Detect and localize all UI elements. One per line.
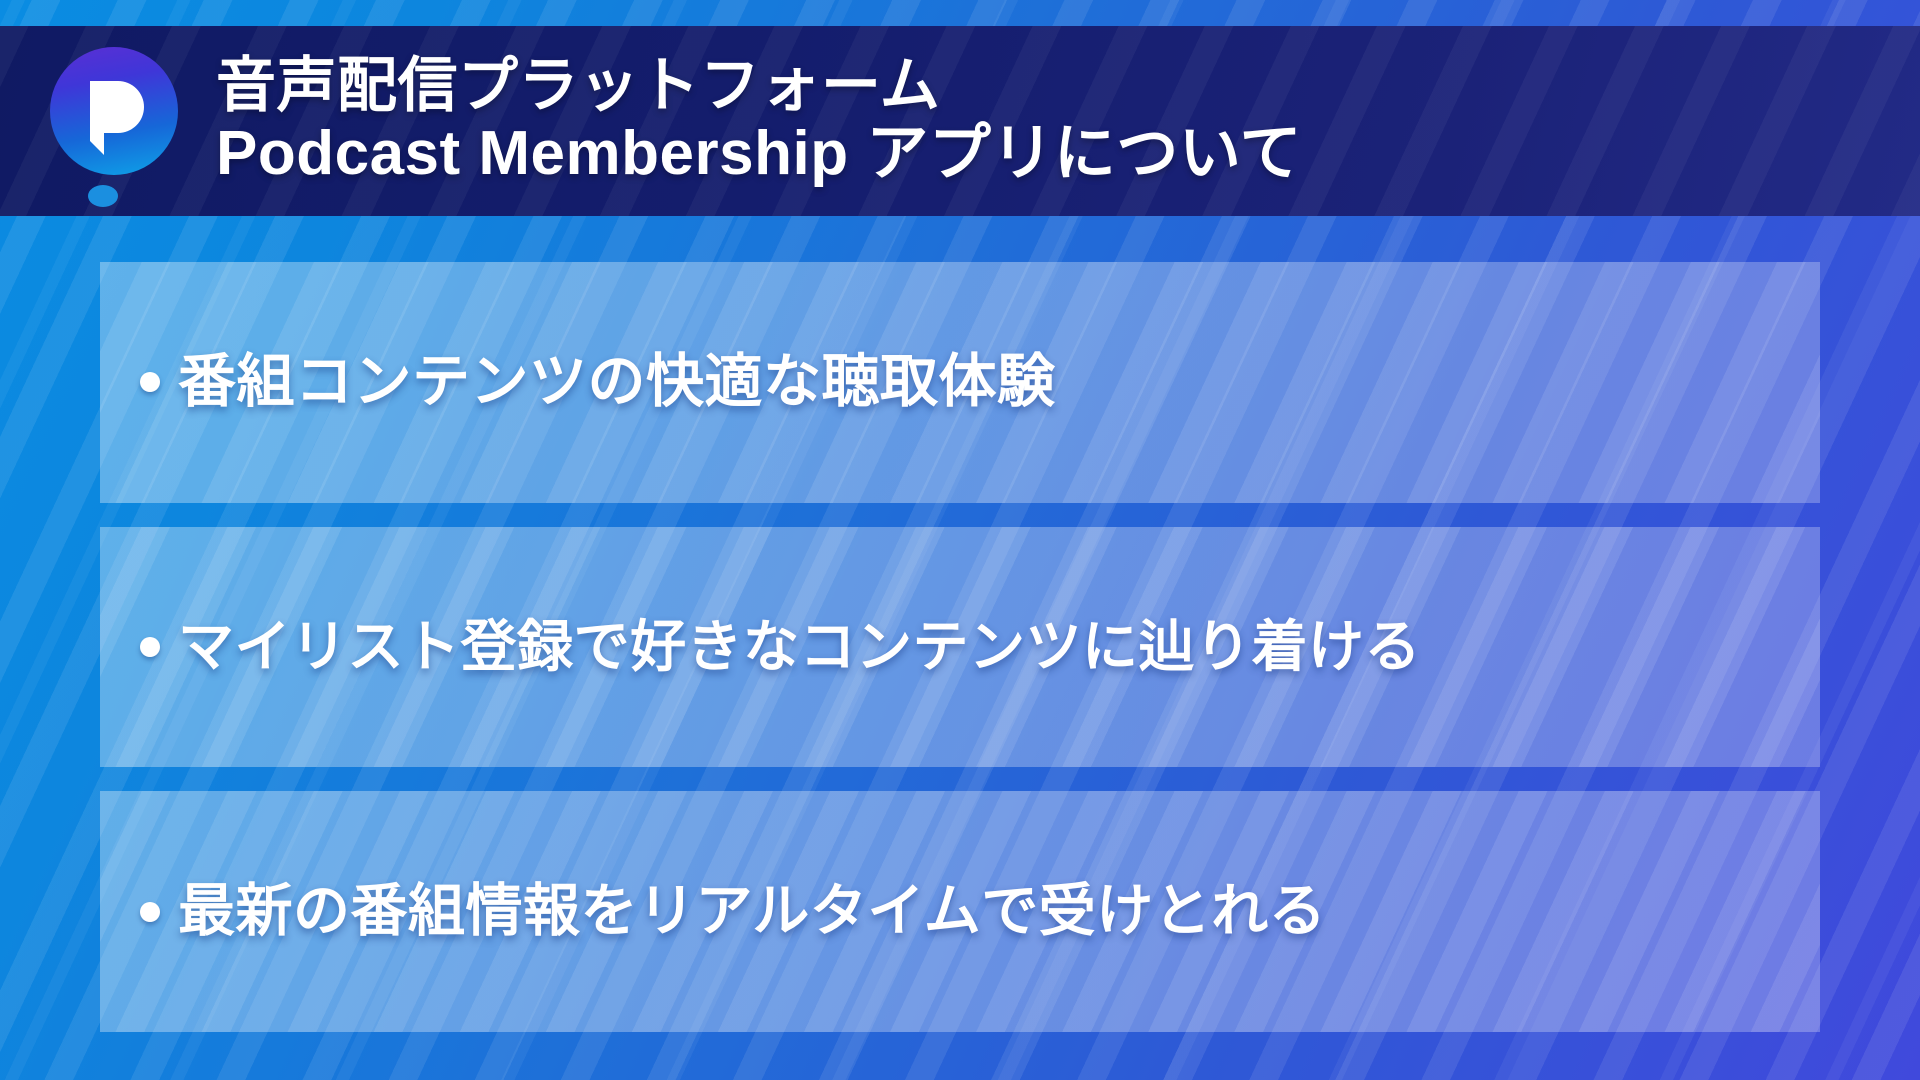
bullet-card-content: 最新の番組情報をリアルタイムで受けとれる	[100, 880, 1356, 943]
page-title-line-2: Podcast Membership アプリについて	[216, 119, 1302, 188]
bullet-card-list: 番組コンテンツの快適な聴取体験 マイリスト登録で好きなコンテンツに辿り着ける 最…	[100, 262, 1820, 1032]
header-title-group: 音声配信プラットフォーム Podcast Membership アプリについて	[216, 54, 1302, 188]
bullet-card-label: 番組コンテンツの快適な聴取体験	[178, 350, 1056, 414]
bullet-card-content: 番組コンテンツの快適な聴取体験	[100, 350, 1086, 414]
slide-stage: 音声配信プラットフォーム Podcast Membership アプリについて …	[0, 0, 1920, 1080]
bullet-dot-icon	[140, 902, 160, 922]
bullet-card-content: マイリスト登録で好きなコンテンツに辿り着ける	[100, 616, 1451, 678]
bullet-card: マイリスト登録で好きなコンテンツに辿り着ける	[100, 527, 1820, 768]
bullet-card: 番組コンテンツの快適な聴取体験	[100, 262, 1820, 503]
podcast-p-logo-icon	[50, 47, 178, 175]
bullet-dot-icon	[140, 372, 160, 392]
bullet-card: 最新の番組情報をリアルタイムで受けとれる	[100, 791, 1820, 1032]
header-band: 音声配信プラットフォーム Podcast Membership アプリについて	[0, 26, 1920, 216]
bullet-card-label: 最新の番組情報をリアルタイムで受けとれる	[178, 880, 1326, 943]
logo-accent-dot-icon	[88, 185, 118, 207]
brand-logo	[44, 39, 194, 209]
bullet-card-label: マイリスト登録で好きなコンテンツに辿り着ける	[178, 616, 1421, 678]
bullet-dot-icon	[140, 637, 160, 657]
page-title-line-1: 音声配信プラットフォーム	[216, 54, 1302, 119]
